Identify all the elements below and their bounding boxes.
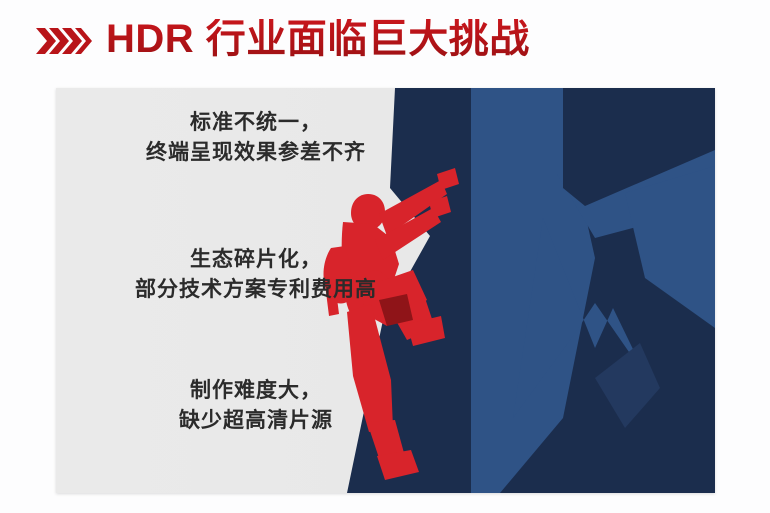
challenge-line-2: 终端呈现效果参差不齐 [56,138,456,168]
challenge-line-1: 标准不统一， [56,108,456,138]
challenge-item-production: 制作难度大， 缺少超高清片源 [56,376,456,436]
challenge-text-column: 标准不统一， 终端呈现效果参差不齐 生态碎片化， 部分技术方案专利费用高 制作难… [56,88,456,493]
double-chevron-right-icon [34,26,92,56]
slide-root: HDR 行业面临巨大挑战 [0,0,770,513]
challenge-line-1: 生态碎片化， [56,245,456,275]
content-panel: 标准不统一， 终端呈现效果参差不齐 生态碎片化， 部分技术方案专利费用高 制作难… [56,88,715,493]
challenge-line-2: 缺少超高清片源 [56,406,456,436]
challenge-item-standards: 标准不统一， 终端呈现效果参差不齐 [56,108,456,168]
challenge-line-1: 制作难度大， [56,376,456,406]
challenge-line-2: 部分技术方案专利费用高 [56,275,456,305]
page-title: HDR 行业面临巨大挑战 [106,19,530,59]
slide-header: HDR 行业面临巨大挑战 [34,10,530,68]
challenge-item-ecosystem: 生态碎片化， 部分技术方案专利费用高 [56,245,456,305]
